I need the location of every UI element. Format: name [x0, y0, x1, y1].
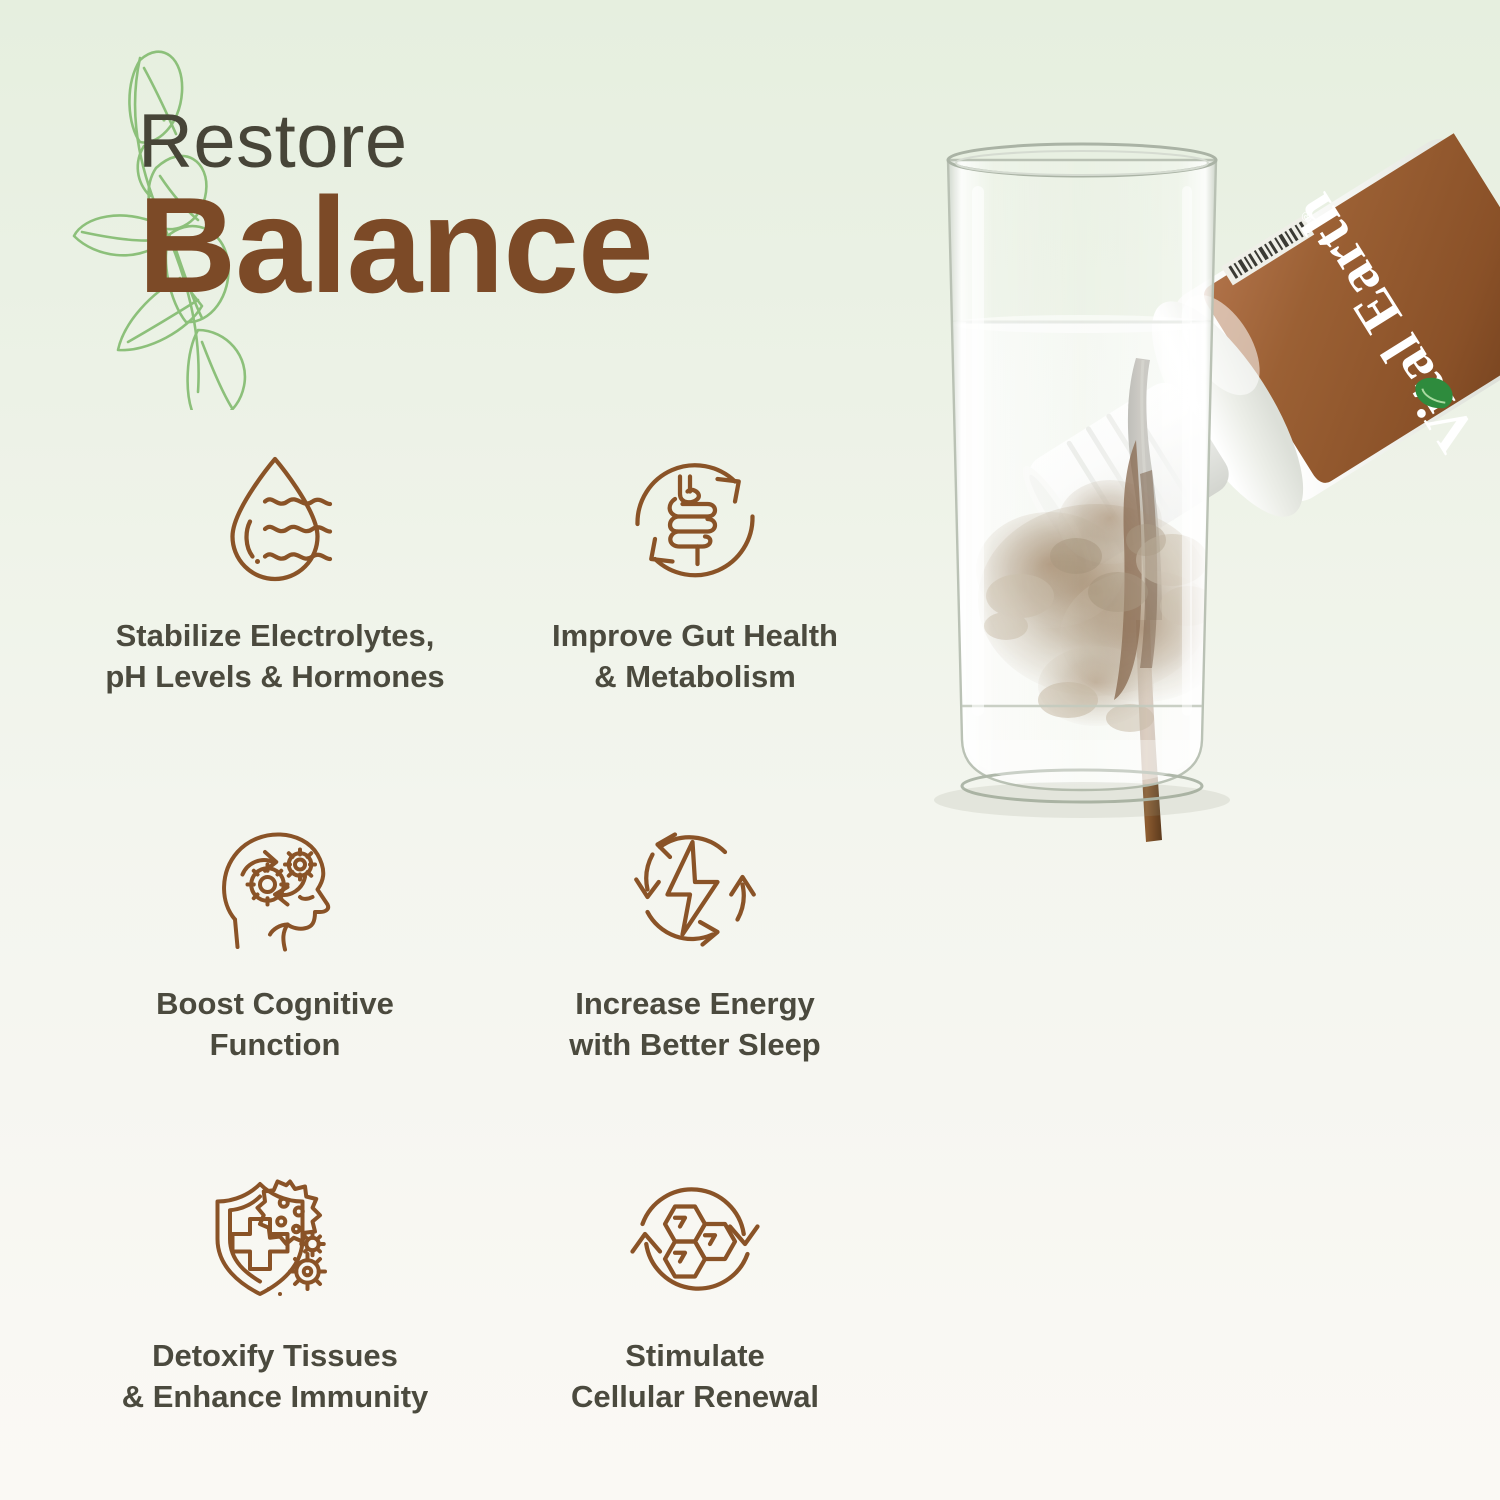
benefit-label: Increase Energy with Better Sleep	[569, 984, 821, 1066]
benefit-item-gut-health: Improve Gut Health & Metabolism	[490, 440, 900, 790]
benefit-label: Stabilize Electrolytes, pH Levels & Horm…	[105, 616, 444, 698]
headline-line-2: Balance	[138, 176, 838, 315]
benefit-label: Boost Cognitive Function	[156, 984, 394, 1066]
benefit-item-immunity: Detoxify Tissues & Enhance Immunity	[70, 1140, 480, 1490]
drinking-glass-of-water	[940, 144, 1230, 802]
benefit-label-line-1: Stimulate	[625, 1338, 765, 1373]
benefits-grid: Stabilize Electrolytes, pH Levels & Horm…	[70, 440, 900, 1490]
water-droplet-waves-icon	[200, 444, 350, 594]
benefit-item-cellular-renewal: Stimulate Cellular Renewal	[490, 1140, 900, 1490]
benefit-label-line-1: Boost Cognitive	[156, 986, 394, 1021]
benefit-label-line-2: & Metabolism	[594, 659, 796, 694]
benefit-label-line-2: Cellular Renewal	[571, 1379, 819, 1414]
benefit-item-electrolytes: Stabilize Electrolytes, pH Levels & Horm…	[70, 440, 480, 790]
benefit-label-line-2: pH Levels & Hormones	[105, 659, 444, 694]
benefit-label: Detoxify Tissues & Enhance Immunity	[122, 1336, 429, 1418]
marketing-image-canvas: Restore Balance Stabilize Electrolytes, …	[0, 0, 1500, 1500]
benefit-label-line-1: Stabilize Electrolytes,	[116, 618, 435, 653]
headline-block: Restore Balance	[138, 104, 838, 315]
benefit-item-energy: Increase Energy with Better Sleep	[490, 790, 900, 1140]
liquid-pour-stream	[1128, 358, 1162, 842]
benefit-label: Stimulate Cellular Renewal	[571, 1336, 819, 1418]
green-leaf-logo-icon	[1411, 369, 1458, 417]
barcode-strip	[1221, 216, 1314, 286]
supplement-bottle: Vital Earth ®	[1014, 115, 1500, 578]
benefit-label-line-2: with Better Sleep	[569, 1027, 821, 1062]
lightning-bolt-cycle-icon	[620, 812, 770, 962]
head-gears-icon	[200, 812, 350, 962]
bottle-brand-text: Vital Earth	[1280, 182, 1489, 463]
benefit-item-cognitive: Boost Cognitive Function	[70, 790, 480, 1140]
benefit-label-line-1: Improve Gut Health	[552, 618, 838, 653]
benefit-label-line-1: Increase Energy	[575, 986, 815, 1021]
intestine-cycle-icon	[620, 444, 770, 594]
mineral-diffusion-plume	[976, 440, 1228, 732]
product-photo: Vital Earth ®	[900, 0, 1500, 1500]
benefit-label-line-1: Detoxify Tissues	[152, 1338, 398, 1373]
shield-cross-germs-icon	[200, 1164, 350, 1314]
benefit-label: Improve Gut Health & Metabolism	[552, 616, 838, 698]
benefit-label-line-2: Function	[210, 1027, 341, 1062]
honeycomb-cells-cycle-icon	[620, 1164, 770, 1314]
svg-text:®: ®	[1297, 208, 1316, 226]
benefit-label-line-2: & Enhance Immunity	[122, 1379, 429, 1414]
